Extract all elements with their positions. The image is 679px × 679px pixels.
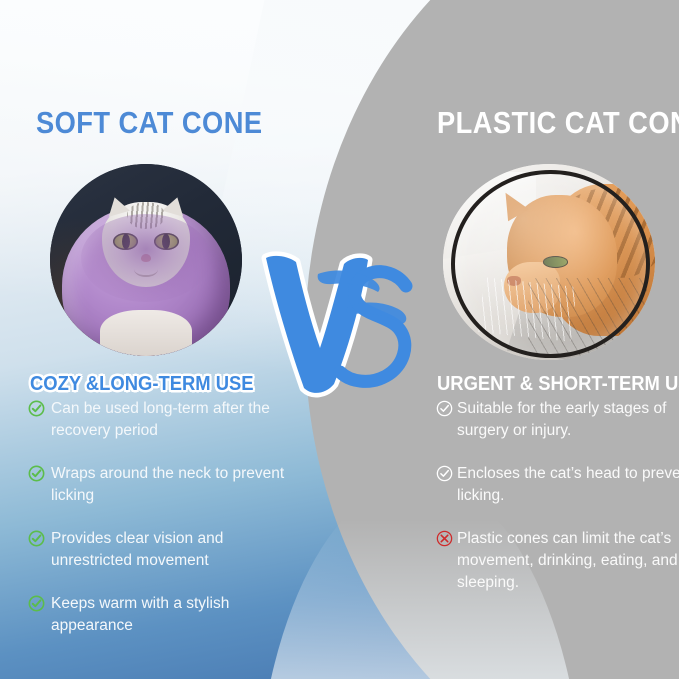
right-column-subtitle: URGENT & SHORT-TERM USE [437,373,679,396]
list-item: Encloses the cat’s head to prevent licki… [436,463,679,507]
list-item-label: Wraps around the neck to prevent licking [51,463,300,507]
list-item: Can be used long-term after the recovery… [28,398,300,442]
left-benefit-list: Can be used long-term after the recovery… [28,398,300,658]
list-item: Suitable for the early stages of surgery… [436,398,679,442]
list-item: Keeps warm with a stylish appearance [28,593,300,637]
list-item-label: Keeps warm with a stylish appearance [51,593,300,637]
left-column-subtitle: COZY &LONG-TERM USE [30,373,254,396]
list-item-label: Plastic cones can limit the cat’s moveme… [457,528,679,594]
vs-badge [258,248,418,400]
right-benefit-list: Suitable for the early stages of surgery… [436,398,679,615]
left-column-title: SOFT CAT CONE [36,105,262,141]
left-product-photo [50,164,242,356]
list-item: Wraps around the neck to prevent licking [28,463,300,507]
right-product-photo [443,164,655,360]
right-column-title: PLASTIC CAT CONE [437,105,679,141]
list-item-label: Provides clear vision and unrestricted m… [51,528,300,572]
list-item-label: Suitable for the early stages of surgery… [457,398,679,442]
list-item: Provides clear vision and unrestricted m… [28,528,300,572]
check-circle-icon [28,595,45,617]
check-circle-icon [436,465,453,487]
list-item-label: Can be used long-term after the recovery… [51,398,300,442]
clear-plastic-cone [451,170,650,358]
check-circle-icon [28,530,45,552]
vs-brush-graphic [258,248,418,400]
comparison-infographic: SOFT CAT CONE COZY &LONG-TERM USE Can be… [0,0,679,679]
list-item: Plastic cones can limit the cat’s moveme… [436,528,679,594]
check-circle-icon [28,400,45,422]
check-circle-icon [436,400,453,422]
check-circle-icon [28,465,45,487]
cross-circle-icon [436,530,453,552]
list-item-label: Encloses the cat’s head to prevent licki… [457,463,679,507]
